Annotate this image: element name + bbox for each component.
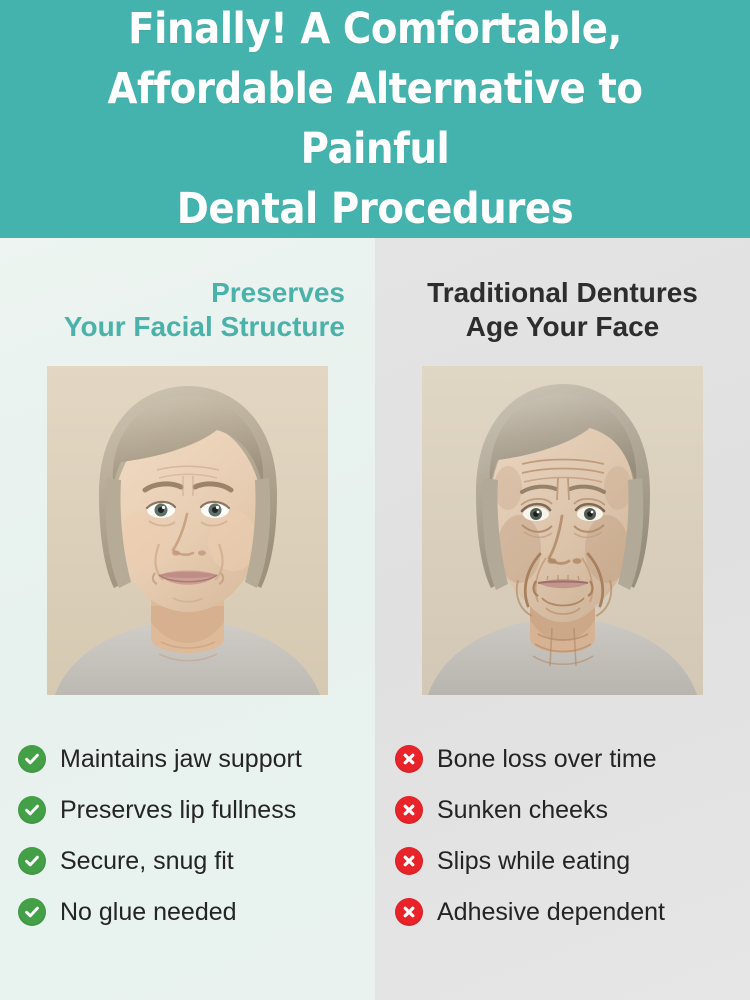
left-photo-wrapper <box>0 366 375 695</box>
comparison-infographic: Finally! A Comfortable, Affordable Alter… <box>0 0 750 1000</box>
x-circle-icon <box>395 796 423 824</box>
check-circle-icon <box>18 745 46 773</box>
right-column-heading: Traditional Dentures Age Your Face <box>375 276 750 344</box>
drawbacks-list: Bone loss over time Sunken cheeks Slips … <box>375 733 750 937</box>
list-item-label: Secure, snug fit <box>60 846 234 876</box>
check-circle-icon <box>18 847 46 875</box>
list-item: Slips while eating <box>395 835 750 886</box>
list-item: Secure, snug fit <box>18 835 375 886</box>
x-circle-icon <box>395 898 423 926</box>
list-item-label: Slips while eating <box>437 846 630 876</box>
x-circle-icon <box>395 745 423 773</box>
check-circle-icon <box>18 898 46 926</box>
column-traditional-dentures: Traditional Dentures Age Your Face <box>375 238 750 1000</box>
header-banner: Finally! A Comfortable, Affordable Alter… <box>0 0 750 238</box>
list-item: No glue needed <box>18 886 375 937</box>
check-circle-icon <box>18 796 46 824</box>
right-photo-wrapper <box>375 366 750 695</box>
list-item: Sunken cheeks <box>395 784 750 835</box>
list-item-label: Maintains jaw support <box>60 744 302 774</box>
list-item-label: Bone loss over time <box>437 744 657 774</box>
list-item: Maintains jaw support <box>18 733 375 784</box>
x-circle-icon <box>395 847 423 875</box>
list-item-label: Sunken cheeks <box>437 795 608 825</box>
photo-aged-face <box>422 366 703 695</box>
list-item: Bone loss over time <box>395 733 750 784</box>
benefits-list: Maintains jaw support Preserves lip full… <box>0 733 375 937</box>
list-item-label: Preserves lip fullness <box>60 795 296 825</box>
list-item: Preserves lip fullness <box>18 784 375 835</box>
list-item: Adhesive dependent <box>395 886 750 937</box>
photo-preserved-face <box>47 366 328 695</box>
list-item-label: Adhesive dependent <box>437 897 665 927</box>
left-column-heading: Preserves Your Facial Structure <box>0 276 375 344</box>
comparison-body: Preserves Your Facial Structure <box>0 238 750 1000</box>
page-title: Finally! A Comfortable, Affordable Alter… <box>55 0 696 239</box>
column-preserves-facial-structure: Preserves Your Facial Structure <box>0 238 375 1000</box>
list-item-label: No glue needed <box>60 897 237 927</box>
